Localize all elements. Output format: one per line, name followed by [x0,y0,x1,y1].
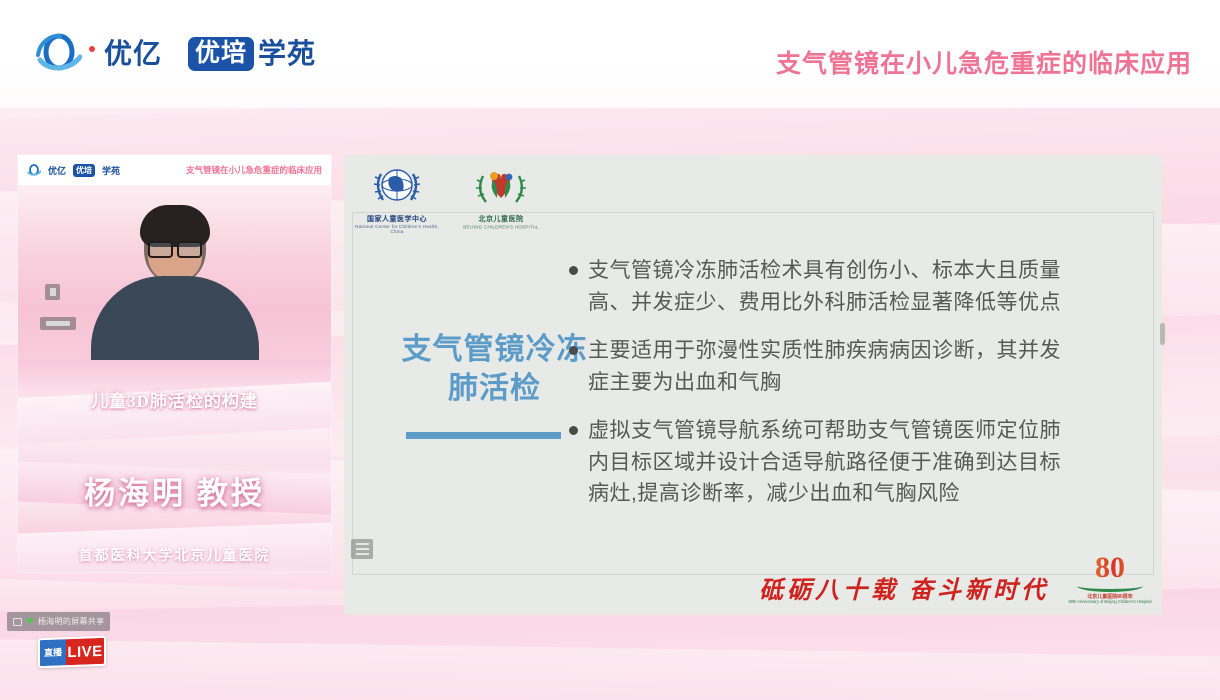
speaker-video-feed[interactable] [18,185,331,360]
youyi-swirl-icon [36,33,82,75]
speaker-organization: 首都医科大学北京儿童医院 [18,545,331,565]
anniversary-logo: 80 北京儿童医院80周年 80th Anniversary of Beijin… [1070,553,1150,611]
video-card-brand-secondary: 学苑 [102,164,120,177]
speaker-name: 杨海明 教授 [18,468,331,513]
bullet-text: 支气管镜冷冻肺活检术具有创伤小、标本大且质量高、并发症少、费用比外科肺活检显著降… [588,255,1074,318]
slide-slogan: 砥砺八十载 奋斗新时代 [759,570,1049,605]
bch-emblem-icon [462,163,540,213]
speaker-glasses [148,241,202,254]
speaker-video-card[interactable]: 优亿 优培 学苑 支气管镜在小儿急危重症的临床应用 儿童3D肺活检的构建 杨海明… [18,155,331,572]
live-badge-right-text: LIVE [66,638,104,665]
video-card-brand-primary: 优亿 [48,164,66,177]
video-overlay-button[interactable] [45,284,60,300]
screen-share-status-bar: 杨海明的屏幕共享 [7,612,110,631]
slide-title-rule [406,432,561,439]
screen-share-label: 杨海明的屏幕共享 [38,616,104,627]
live-badge-left-text: 直播 [40,639,66,666]
page-title: 支气管镜在小儿急危重症的临床应用 [776,44,1192,80]
youpei-logo-text: 学苑 [258,40,316,68]
panel-resize-handle[interactable] [1160,323,1165,345]
list-item: 支气管镜冷冻肺活检术具有创伤小、标本大且质量高、并发症少、费用比外科肺活检显著降… [569,255,1074,318]
shared-screen-slide[interactable]: 国家人童医学中心 National Center for Children's … [344,155,1162,615]
youyi-dot-icon [89,46,95,52]
video-card-brand: 优亿 优培 学苑 [27,164,120,177]
anniversary-en-label: 80th Anniversary of Beijing Children's H… [1062,600,1158,605]
live-badge[interactable]: 直播 LIVE [38,636,106,668]
speaker-body [91,276,259,360]
brand-row: 优亿 优培 学苑 [36,33,316,75]
video-overlay-toolbar[interactable] [40,317,76,330]
bullet-dot-icon [569,266,578,275]
list-item: 虚拟支气管镜导航系统可帮助支气管镜医师定位肺内目标区域并设计合适导航路径便于准确… [569,415,1074,510]
list-item: 主要适用于弥漫性实质性肺疾病病因诊断，其并发症主要为出血和气胸 [569,335,1074,398]
youpei-logo[interactable]: 优培 学苑 [188,37,316,70]
youyi-logo-text: 优亿 [104,40,162,68]
video-card-brand-box: 优培 [73,164,95,177]
bullet-text: 虚拟支气管镜导航系统可帮助支气管镜医师定位肺内目标区域并设计合适导航路径便于准确… [588,415,1074,510]
monitor-icon [13,618,22,626]
slide-menu-button[interactable] [351,539,373,559]
video-card-header: 优亿 优培 学苑 支气管镜在小儿急危重症的临床应用 [18,155,331,185]
bullet-dot-icon [569,346,578,355]
video-card-title: 支气管镜在小儿急危重症的临床应用 [186,164,322,176]
bullet-dot-icon [569,426,578,435]
youyi-logo[interactable]: 优亿 [36,33,162,75]
slide-title: 支气管镜冷冻肺活检 [392,330,597,408]
youpei-logo-box: 优培 [188,37,254,70]
top-header-bar: 优亿 优培 学苑 支气管镜在小儿急危重症的临床应用 [0,0,1220,108]
slide-bullet-list: 支气管镜冷冻肺活检术具有创伤小、标本大且质量高、并发症少、费用比外科肺活检显著降… [569,255,1074,527]
speaker-topic: 儿童3D肺活检的构建 [18,387,331,412]
share-arrow-icon [26,618,34,625]
nchc-emblem-icon [358,163,436,213]
anniversary-number: 80 [1070,553,1150,583]
bullet-text: 主要适用于弥漫性实质性肺疾病病因诊断，其并发症主要为出血和气胸 [588,335,1074,398]
youyi-swirl-icon-mini [27,164,41,177]
